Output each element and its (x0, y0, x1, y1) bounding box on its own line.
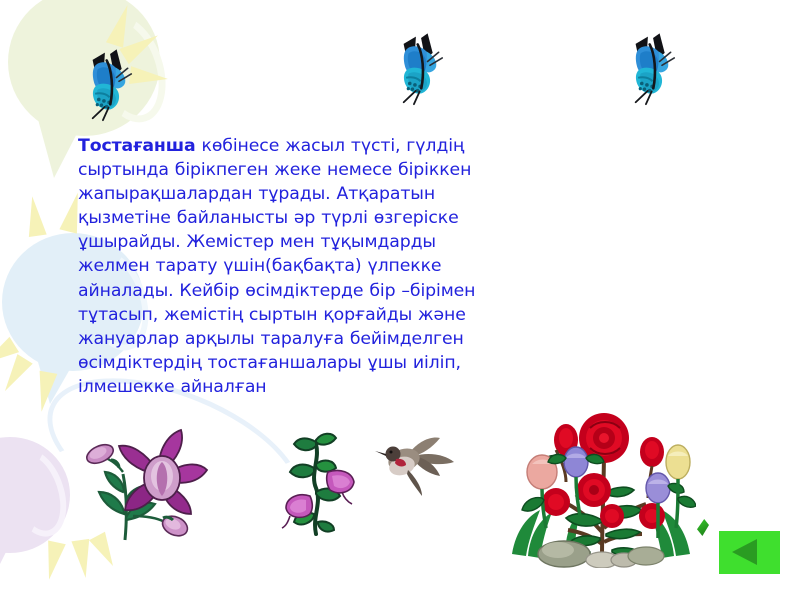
balloon-lavender-highlight (0, 442, 77, 544)
bellflower-vine-image (276, 426, 362, 538)
presentation-slide: Тостағанша көбінесе жасыл түсті, гүлдің … (0, 0, 800, 600)
sun-ray-icon (0, 337, 19, 371)
back-navigation-button[interactable] (719, 531, 780, 574)
triangle-left-icon (732, 539, 757, 565)
hummingbird-image (374, 434, 460, 500)
butterfly-left-icon (75, 40, 149, 124)
rose-garden-image (506, 412, 696, 568)
leaf-accent-icon (697, 519, 709, 536)
balloon-blue-tail (34, 348, 82, 404)
slide-body-text: Тостағанша көбінесе жасыл түсті, гүлдің … (78, 134, 488, 399)
balloon-lavender-shape (0, 437, 70, 553)
sun-ray-icon (23, 195, 46, 237)
orchid-flower-image (83, 418, 209, 544)
sun-ray-icon (0, 354, 33, 396)
balloon-lavender-tail (0, 532, 16, 584)
body-paragraph: көбінесе жасыл түсті, гүлдің сыртында бі… (78, 136, 481, 397)
sun-ray-icon (71, 539, 94, 579)
sun-ray-icon (40, 541, 66, 582)
lead-term: Тостағанша (78, 136, 196, 156)
butterfly-right-icon (618, 24, 692, 108)
butterfly-center-icon (386, 24, 460, 108)
sun-ray-icon (33, 371, 58, 414)
